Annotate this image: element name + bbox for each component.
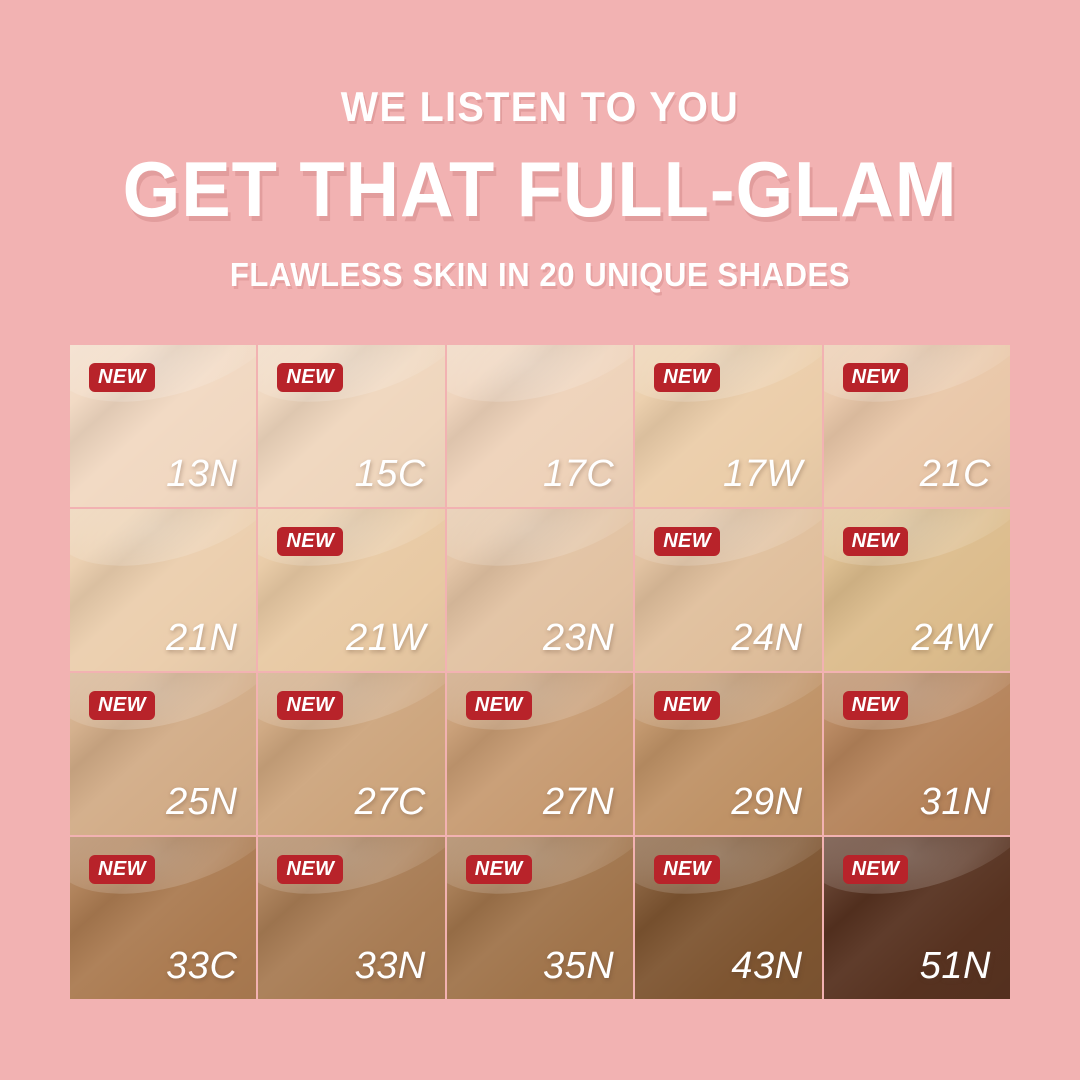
new-badge: NEW bbox=[654, 691, 720, 720]
shade-code-label: 33C bbox=[166, 947, 237, 985]
new-badge: NEW bbox=[466, 691, 532, 720]
shade-code-label: 43N bbox=[731, 947, 802, 985]
new-badge: NEW bbox=[843, 855, 909, 884]
shade-swatch[interactable]: NEW13N bbox=[70, 345, 256, 507]
shade-code-label: 35N bbox=[543, 947, 614, 985]
shade-swatch[interactable]: NEW24N bbox=[635, 509, 821, 671]
eyebrow-text: WE LISTEN TO YOU bbox=[32, 86, 1047, 128]
shade-swatch[interactable]: NEW24W bbox=[824, 509, 1010, 671]
shade-code-label: 29N bbox=[731, 783, 802, 821]
new-badge: NEW bbox=[277, 363, 343, 392]
new-badge: NEW bbox=[89, 855, 155, 884]
shade-swatch[interactable]: NEW17W bbox=[635, 345, 821, 507]
shade-code-label: 27C bbox=[355, 783, 426, 821]
new-badge: NEW bbox=[277, 691, 343, 720]
shade-swatch[interactable]: NEW33N bbox=[258, 837, 444, 999]
new-badge: NEW bbox=[89, 363, 155, 392]
new-badge: NEW bbox=[466, 855, 532, 884]
shade-swatch[interactable]: NEW51N bbox=[824, 837, 1010, 999]
shade-swatch[interactable]: NEW21C bbox=[824, 345, 1010, 507]
subtitle-text: FLAWLESS SKIN IN 20 UNIQUE SHADES bbox=[32, 258, 1047, 291]
new-badge: NEW bbox=[654, 363, 720, 392]
shade-swatch[interactable]: 17C bbox=[447, 345, 633, 507]
shade-swatch[interactable]: NEW15C bbox=[258, 345, 444, 507]
new-badge: NEW bbox=[843, 691, 909, 720]
new-badge: NEW bbox=[843, 363, 909, 392]
shade-swatch[interactable]: NEW21W bbox=[258, 509, 444, 671]
promo-header: WE LISTEN TO YOU GET THAT FULL-GLAM FLAW… bbox=[0, 0, 1080, 291]
shade-swatch[interactable]: NEW35N bbox=[447, 837, 633, 999]
shade-swatch[interactable]: NEW29N bbox=[635, 673, 821, 835]
shade-code-label: 21C bbox=[920, 455, 991, 493]
shade-code-label: 13N bbox=[166, 455, 237, 493]
shade-code-label: 31N bbox=[920, 783, 991, 821]
shade-swatch[interactable]: NEW27C bbox=[258, 673, 444, 835]
shade-code-label: 17W bbox=[723, 455, 803, 493]
shade-code-label: 21N bbox=[166, 619, 237, 657]
shade-swatch-grid: NEW13NNEW15C17CNEW17WNEW21C21NNEW21W23NN… bbox=[70, 345, 1010, 999]
new-badge: NEW bbox=[654, 527, 720, 556]
shade-code-label: 33N bbox=[355, 947, 426, 985]
new-badge: NEW bbox=[277, 855, 343, 884]
shade-swatch[interactable]: NEW43N bbox=[635, 837, 821, 999]
shade-swatch[interactable]: NEW33C bbox=[70, 837, 256, 999]
shade-swatch[interactable]: NEW27N bbox=[447, 673, 633, 835]
shade-swatch[interactable]: NEW25N bbox=[70, 673, 256, 835]
new-badge: NEW bbox=[654, 855, 720, 884]
shade-code-label: 24N bbox=[731, 619, 802, 657]
new-badge: NEW bbox=[843, 527, 909, 556]
shade-code-label: 51N bbox=[920, 947, 991, 985]
shade-swatch[interactable]: 21N bbox=[70, 509, 256, 671]
shade-code-label: 27N bbox=[543, 783, 614, 821]
new-badge: NEW bbox=[277, 527, 343, 556]
shade-swatch[interactable]: 23N bbox=[447, 509, 633, 671]
shade-code-label: 25N bbox=[166, 783, 237, 821]
shade-swatch[interactable]: NEW31N bbox=[824, 673, 1010, 835]
shade-code-label: 24W bbox=[911, 619, 991, 657]
new-badge: NEW bbox=[89, 691, 155, 720]
shade-code-label: 23N bbox=[543, 619, 614, 657]
shade-code-label: 15C bbox=[355, 455, 426, 493]
shade-code-label: 17C bbox=[543, 455, 614, 493]
shade-code-label: 21W bbox=[346, 619, 426, 657]
page-title: GET THAT FULL-GLAM bbox=[27, 150, 1053, 228]
